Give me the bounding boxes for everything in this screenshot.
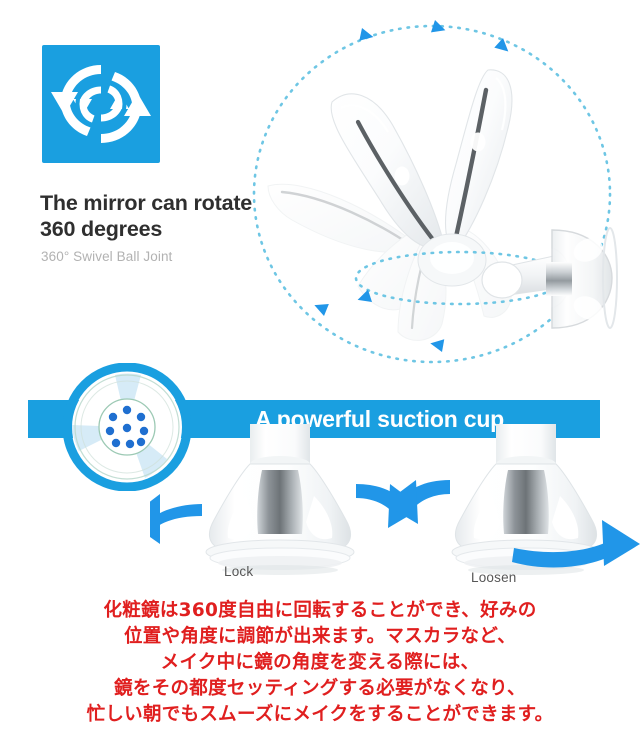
description-line: 位置や角度に調節が出来ます。マスカラなど、 bbox=[0, 624, 640, 650]
mirror-rotating-360-illustration bbox=[246, 16, 640, 372]
caption-lock: Lock bbox=[224, 564, 253, 579]
mirror-blade-right bbox=[446, 70, 512, 250]
mirror-pivot-hub bbox=[418, 234, 486, 286]
suction-cup-loosen bbox=[396, 416, 640, 584]
rotate-subheading: 360° Swivel Ball Joint bbox=[41, 249, 172, 264]
curved-arrow-left bbox=[150, 494, 202, 544]
caption-loosen: Loosen bbox=[471, 570, 517, 585]
rotate-feature-section: The mirror can rotate 360 degrees 360° S… bbox=[0, 0, 640, 372]
description-line: メイク中に鏡の角度を変える際には、 bbox=[0, 650, 640, 676]
description-block: 化粧鏡は360度自由に回転することができ、好みの 位置や角度に調節が出来ます。マ… bbox=[0, 592, 640, 750]
rotate-360-icon bbox=[42, 45, 160, 163]
rotate-heading-line-2: 360 degrees bbox=[40, 217, 162, 241]
description-line: 鏡をその都度セッティングする必要がなくなり、 bbox=[0, 676, 640, 702]
description-line: 忙しい朝でもスムーズにメイクをすることができます。 bbox=[0, 702, 640, 728]
curved-arrow-left bbox=[396, 480, 450, 524]
rotate-heading-line-1: The mirror can rotate bbox=[40, 191, 252, 215]
suction-cup-lock bbox=[150, 424, 410, 584]
description-line: 化粧鏡は360度自由に回転することができ、好みの bbox=[0, 598, 640, 624]
